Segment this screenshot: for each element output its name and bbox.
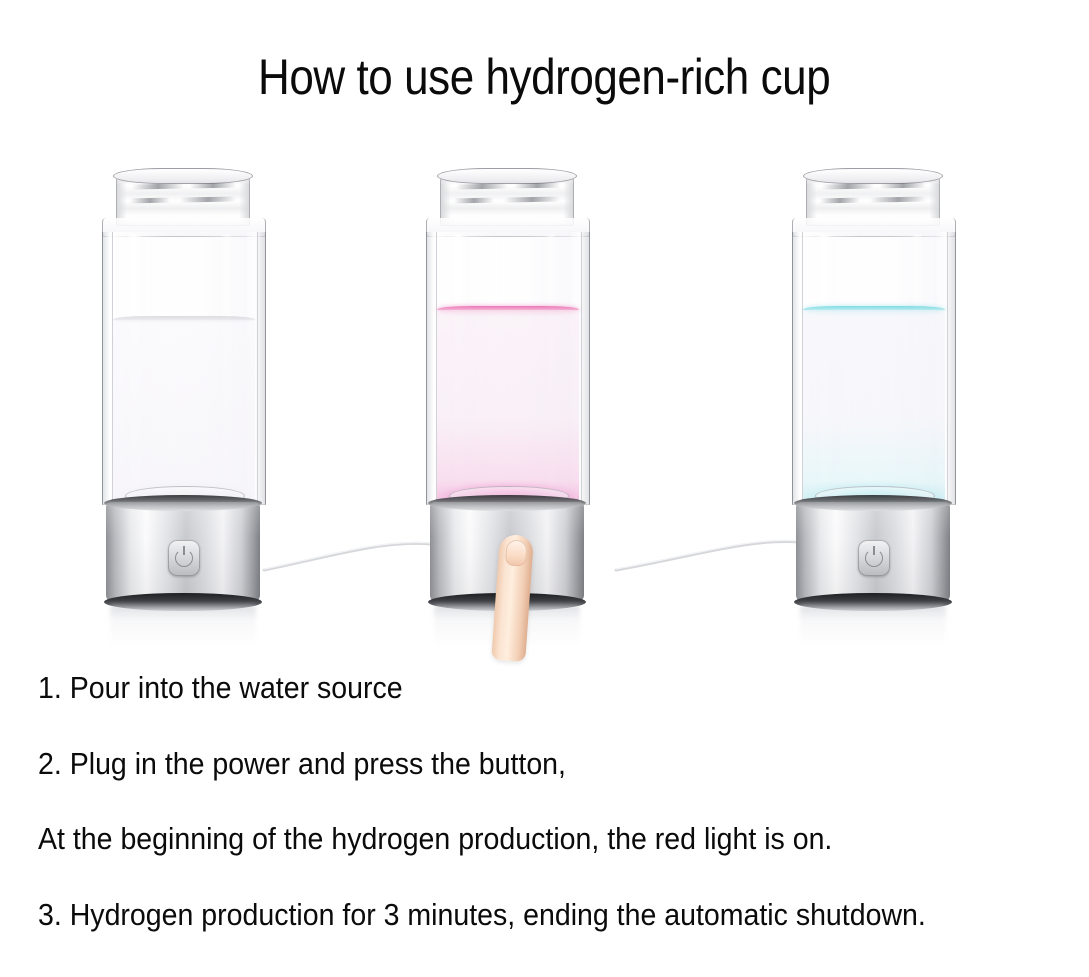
water-fill [437, 306, 579, 504]
thread-line [822, 183, 874, 189]
thread-line [514, 183, 560, 189]
surface-reflection [800, 605, 946, 647]
power-icon [175, 549, 193, 567]
instruction-step-1: 1. Pour into the water source [38, 672, 986, 703]
bottle-glass-body [792, 232, 956, 505]
water-volume [113, 320, 255, 504]
power-cable [262, 530, 432, 590]
page-title-text: How to use hydrogen-rich cup [258, 52, 830, 102]
thread-line [190, 183, 236, 189]
finger-press-icon [492, 535, 544, 665]
instruction-note-red-light: At the beginning of the hydrogen product… [38, 823, 986, 854]
bottle-step-3 [778, 150, 968, 640]
thread-line [870, 196, 926, 202]
product-illustration [0, 150, 1089, 650]
instruction-step-2: 2. Plug in the power and press the butto… [38, 748, 986, 779]
finger-shape [491, 534, 534, 662]
thread-line [132, 183, 184, 189]
bottle-glass-body [426, 232, 590, 505]
instruction-list: 1. Pour into the water source 2. Plug in… [38, 672, 1068, 930]
bottle-step-1 [88, 150, 278, 640]
water-fill [113, 316, 255, 504]
water-volume [803, 310, 945, 504]
thread-line [820, 198, 860, 204]
thread-line [180, 196, 236, 202]
water-fill [803, 306, 945, 504]
metal-base-unit [796, 502, 950, 602]
thread-line [454, 198, 494, 204]
metal-base-unit [106, 502, 260, 602]
power-button[interactable] [858, 540, 890, 576]
thread-line [130, 198, 170, 204]
water-volume [437, 310, 579, 504]
instruction-step-3: 3. Hydrogen production for 3 minutes, en… [38, 899, 986, 930]
surface-reflection [110, 605, 256, 647]
thread-line [456, 183, 508, 189]
bottle-glass-body [102, 232, 266, 505]
power-cable [614, 530, 800, 590]
power-button[interactable] [168, 540, 200, 576]
thread-line [504, 196, 560, 202]
page-title: How to use hydrogen-rich cup [0, 52, 1089, 102]
fingernail [505, 539, 528, 566]
power-icon [865, 549, 883, 567]
thread-line [880, 183, 926, 189]
